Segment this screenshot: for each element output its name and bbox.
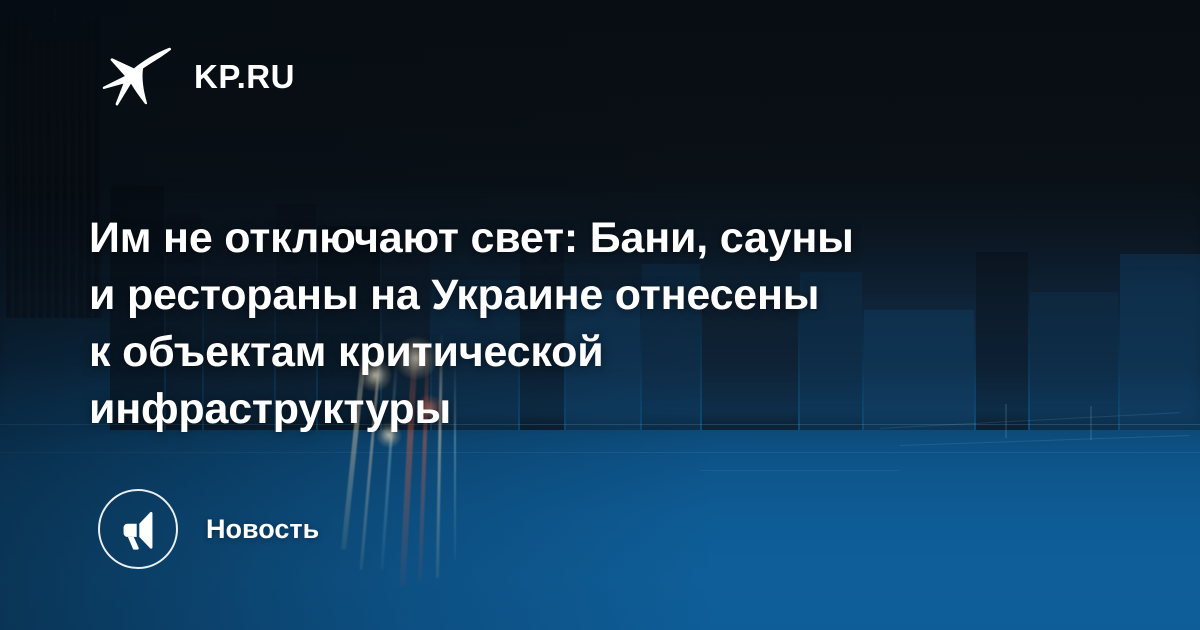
status-badge-label: Новость [206, 516, 319, 543]
headline-line: и рестораны на Украине отнесены [89, 267, 1029, 324]
megaphone-icon [117, 508, 159, 550]
status-badge[interactable]: Новость [98, 489, 319, 569]
headline-line: инфраструктуры [89, 381, 1029, 438]
share-card: KP.RU Им не отключают свет: Бани, сауны … [0, 0, 1200, 630]
headline-line: Им не отключают свет: Бани, сауны [89, 210, 1029, 267]
megaphone-icon-circle [98, 489, 178, 569]
brand-name: KP.RU [194, 60, 295, 93]
headline-line: к объектам критической [89, 324, 1029, 381]
page-title: Им не отключают свет: Бани, сауны и рест… [89, 210, 1029, 438]
brand-lockup[interactable]: KP.RU [96, 38, 295, 114]
swallow-bird-icon [96, 38, 172, 114]
